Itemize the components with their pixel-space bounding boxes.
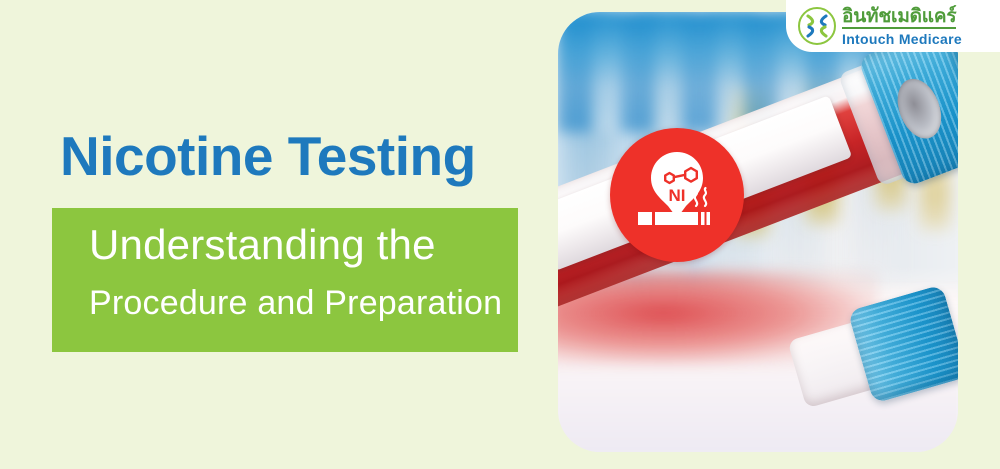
logo-english-name: Intouch Medicare [842,32,962,46]
intouch-medicare-logo-mark-icon [798,7,836,45]
logo-thai-name: อินทัชเมดิแคร์ [842,7,956,29]
headline-block: Nicotine Testing Understanding the Proce… [0,0,560,469]
page-title: Nicotine Testing [60,129,476,184]
hero-photo: NI [558,12,958,452]
banner-root: Nicotine Testing Understanding the Proce… [0,0,1000,469]
no-nicotine-icon: NI [610,128,744,262]
subtitle-line-2: Procedure and Preparation [89,286,502,320]
svg-text:NI: NI [669,186,686,205]
brand-logo[interactable]: อินทัชเมดิแคร์ Intouch Medicare [786,0,1000,52]
logo-wordmark: อินทัชเมดิแคร์ Intouch Medicare [842,7,962,46]
subtitle-line-1: Understanding the [89,224,436,266]
subtitle-panel: Understanding the Procedure and Preparat… [52,208,518,352]
